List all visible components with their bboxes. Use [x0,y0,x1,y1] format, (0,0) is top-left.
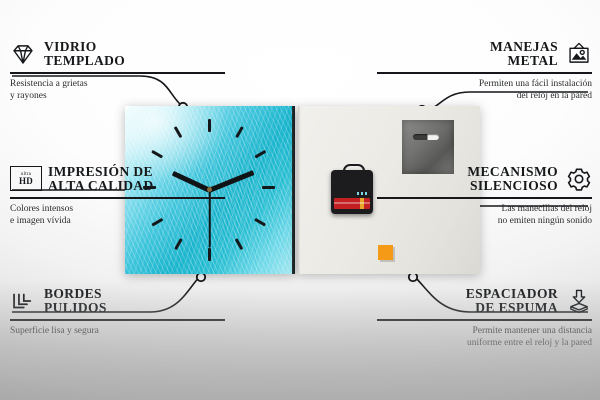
callout-title: ESPACIADOR DE ESPUMA [466,287,558,316]
ultra-hd-icon: ultra HD [10,166,40,192]
battery [334,198,370,209]
callout-description: Superficie lisa y segura [10,325,225,337]
callout-description: Permiten una fácil instalación del reloj… [377,78,592,103]
tick-3 [262,186,275,189]
foam-spacer-icon [566,288,592,314]
infographic-canvas: VIDRIO TEMPLADO Resistencia a grietas y … [0,0,600,400]
divider [10,319,225,321]
callout-title: BORDES PULIDOS [44,287,107,316]
callout-description: Permite mantener una distancia uniforme … [377,325,592,350]
wire-dot-espaciador [409,273,417,281]
tick-12 [208,119,211,132]
callout-title: VIDRIO TEMPLADO [44,40,125,69]
ultra-hd-badge: ultra HD [10,166,42,191]
divider [377,319,592,321]
wire-dot-bordes [197,273,205,281]
callout-mecanismo-silencioso: MECANISMO SILENCIOSO Las manecillas del … [377,165,592,227]
hanger-slot [413,134,439,140]
ultra-hd-main-text: HD [19,177,33,186]
movement-label [357,192,369,195]
callout-description: Las manecillas del reloj no emiten ningú… [377,203,592,228]
divider [377,197,592,199]
callout-title: IMPRESIÓN DE ALTA CALIDAD [48,165,154,194]
callout-vidrio-templado: VIDRIO TEMPLADO Resistencia a grietas y … [10,40,225,102]
callout-title: MECANISMO SILENCIOSO [467,165,558,194]
tick-6 [208,248,211,261]
divider [377,72,592,74]
callout-description: Colores intensos e imagen vívida [10,203,225,228]
callout-header: ESPACIADOR DE ESPUMA [377,287,592,316]
movement-hook [343,164,365,176]
callout-description: Resistencia a grietas y rayones [10,78,225,103]
panel-lip [298,106,301,274]
callout-header: MANEJAS METAL [377,40,592,69]
callout-espaciador-espuma: ESPACIADOR DE ESPUMA Permite mantener un… [377,287,592,349]
callout-header: BORDES PULIDOS [10,287,225,316]
callout-manejas-metal: MANEJAS METAL Permiten una fácil instala… [377,40,592,102]
divider [10,197,225,199]
callout-bordes-pulidos: BORDES PULIDOS Superficie lisa y segura [10,287,225,337]
foam-spacer-pad [378,245,393,260]
gear-icon [566,166,592,192]
quartz-movement [331,170,373,214]
callout-header: VIDRIO TEMPLADO [10,40,225,69]
polished-edges-icon [10,288,36,314]
callout-header: ultra HD IMPRESIÓN DE ALTA CALIDAD [10,165,225,194]
panel-edge [292,106,295,274]
callout-impresion-alta-calidad: ultra HD IMPRESIÓN DE ALTA CALIDAD Color… [10,165,225,227]
divider [10,72,225,74]
picture-frame-icon [566,41,592,67]
diamond-icon [10,41,36,67]
callout-header: MECANISMO SILENCIOSO [377,165,592,194]
callout-title: MANEJAS METAL [490,40,558,69]
